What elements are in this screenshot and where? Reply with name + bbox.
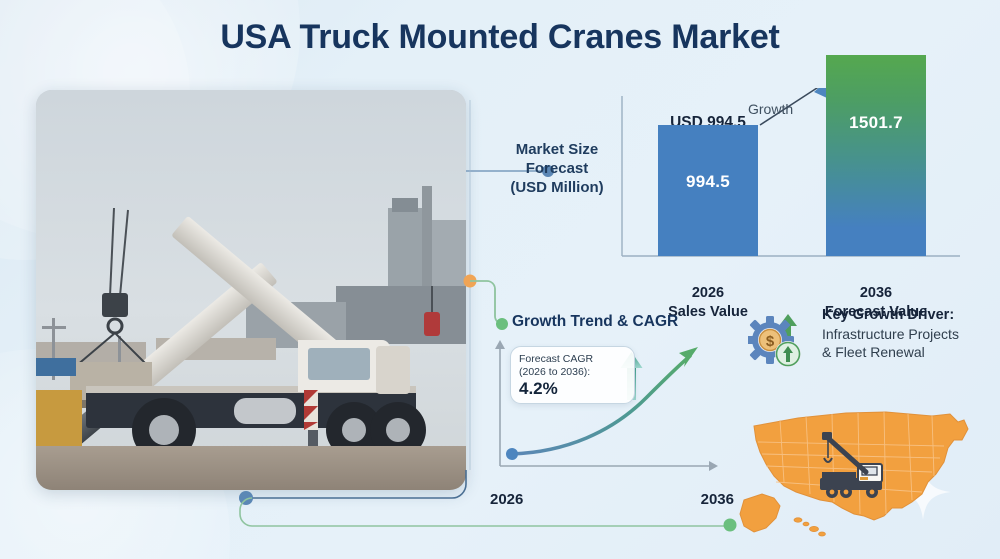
- usa-map: [736, 396, 986, 546]
- connector-dot-bottom-right: [724, 519, 737, 532]
- cagr-label: Forecast CAGR (2026 to 2036):: [519, 353, 611, 379]
- hero-photo: [36, 90, 466, 490]
- infographic-canvas: USA Truck Mounted Cranes Market: [0, 0, 1000, 559]
- usa-map-graphic: [736, 396, 986, 546]
- cagr-callout-box: Forecast CAGR (2026 to 2036): 4.2%: [510, 346, 635, 404]
- bar-2026: 994.5: [658, 125, 758, 256]
- market-size-label-line2: Forecast: [492, 159, 622, 178]
- hawaii-shape: [794, 518, 825, 536]
- key-growth-driver-line1: Infrastructure Projects: [822, 325, 992, 344]
- cagr-label-line2: (2026 to 2036):: [519, 366, 590, 378]
- alaska-shape: [740, 494, 780, 532]
- growth-arrow-label: Growth: [748, 101, 793, 117]
- trend-xaxis-start: 2026: [490, 491, 523, 508]
- market-size-label-line1: Market Size: [492, 140, 622, 159]
- svg-text:$: $: [766, 333, 775, 350]
- bar-2026-xlabel-year: 2026: [626, 284, 790, 303]
- connector-dot-bottom-left: [239, 491, 253, 505]
- bar-2036-value: 1501.7: [826, 113, 926, 133]
- connector-dot-growth-trend: [496, 318, 508, 330]
- bar-2026-value: 994.5: [658, 172, 758, 192]
- market-size-label: Market Size Forecast (USD Million): [492, 140, 622, 198]
- key-growth-driver-heading: Key Growth Driver:: [822, 306, 992, 325]
- crane-scene-illustration: [36, 90, 466, 490]
- key-growth-driver-text: Key Growth Driver: Infrastructure Projec…: [822, 306, 992, 362]
- trend-xaxis-end: 2036: [701, 491, 734, 508]
- growth-trend-chart: Forecast CAGR (2026 to 2036): 4.2% 2026 …: [486, 336, 726, 486]
- market-size-label-line3: (USD Million): [492, 178, 622, 197]
- cagr-label-line1: Forecast CAGR: [519, 353, 593, 365]
- cagr-value: 4.2%: [519, 379, 611, 399]
- market-size-bar-chart: USD 994.5 million USD 1,501.7 million Gr…: [608, 88, 968, 288]
- key-growth-driver-line2: & Fleet Renewal: [822, 343, 992, 362]
- gear-dollar-growth-icon: $: [748, 308, 814, 370]
- bar-2036-xlabel-year: 2036: [794, 284, 958, 303]
- page-title: USA Truck Mounted Cranes Market: [0, 18, 1000, 57]
- growth-trend-label: Growth Trend & CAGR: [512, 313, 678, 331]
- bar-2036: 1501.7: [826, 55, 926, 256]
